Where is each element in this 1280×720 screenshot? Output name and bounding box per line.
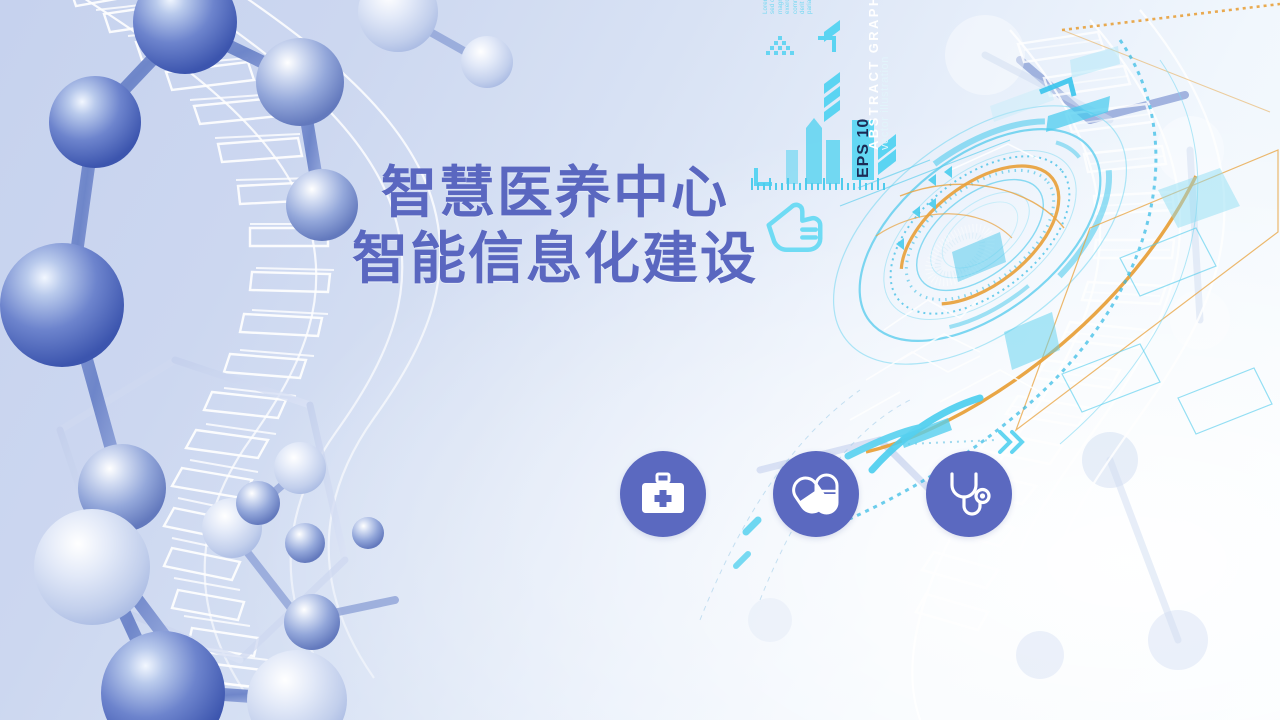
lorem-line: pariatur. bbox=[806, 0, 813, 14]
lorem-line: exercitation ullamco laboris nisi ut ali… bbox=[784, 0, 791, 14]
first-aid-kit-icon bbox=[639, 472, 687, 516]
title-line-1: 智慧医养中心 bbox=[330, 160, 780, 226]
eps-version-caption: EPS 10 bbox=[855, 118, 873, 178]
stethoscope-badge[interactable] bbox=[926, 451, 1012, 537]
medical-icon-row bbox=[620, 448, 1012, 540]
vector-illustration-caption: vector illustration bbox=[879, 56, 891, 150]
pills-capsule-badge[interactable] bbox=[773, 451, 859, 537]
pills-capsule-icon bbox=[791, 471, 841, 517]
lorem-line: Lorem ipsum dolor sit amet, consectetur … bbox=[762, 0, 769, 14]
title-line-2: 智能信息化建设 bbox=[330, 226, 780, 292]
page-title: 智慧医养中心 智能信息化建设 bbox=[330, 160, 780, 292]
tech-hud-layer bbox=[0, 0, 1280, 720]
lorem-line: magna aliqua. Ut enim ad minim veniam, q… bbox=[777, 0, 784, 14]
lorem-line: sed do eiusmod tempor incididunt ut labo… bbox=[769, 0, 776, 14]
decor-bar-shapes bbox=[786, 118, 840, 184]
decor-pixel-triangle bbox=[766, 36, 794, 55]
slide-canvas: ABSTRACT GRAPHIC vector illustration EPS… bbox=[0, 0, 1280, 720]
lorem-line: derit in voluptate velit esse cillum dol… bbox=[799, 0, 806, 14]
first-aid-kit-badge[interactable] bbox=[620, 451, 706, 537]
stethoscope-icon bbox=[944, 470, 994, 518]
lorem-line: commodo consequat. Duis aute irure dolor… bbox=[792, 0, 799, 14]
lorem-ipsum-decor-text: Lorem ipsum dolor sit amet, consectetur … bbox=[762, 0, 814, 14]
